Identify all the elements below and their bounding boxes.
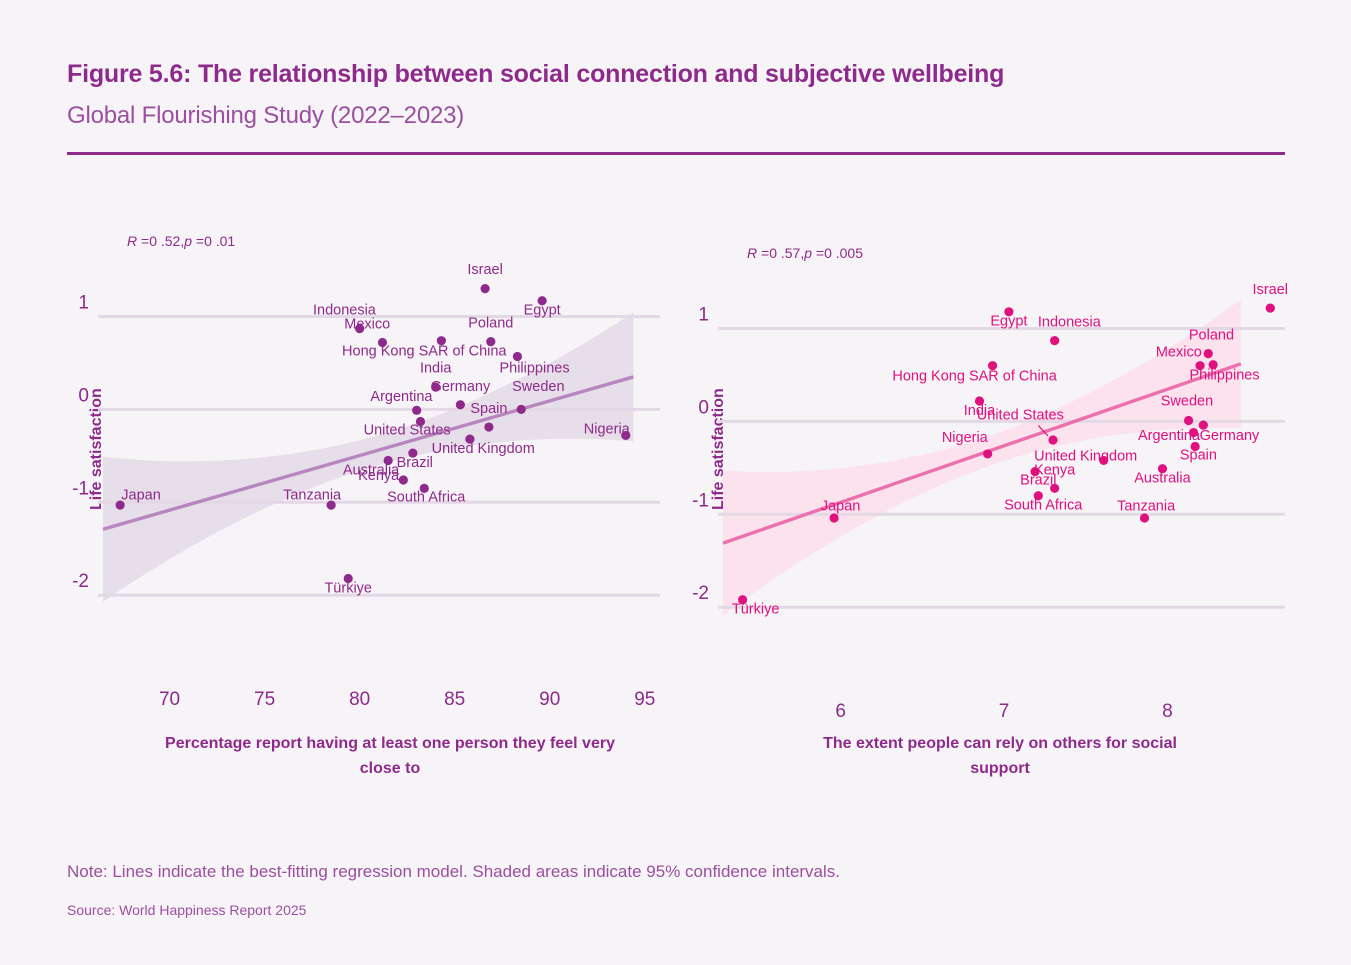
data-point[interactable] xyxy=(412,406,421,415)
left-chart-svg: 10-1-2707580859095R =0 .52,p =0 .01Israe… xyxy=(0,180,700,720)
data-point-label: Brazil xyxy=(397,455,433,471)
data-point-label: Spain xyxy=(470,401,507,417)
data-point-label: South Africa xyxy=(1004,498,1083,514)
data-point-label: Türkiye xyxy=(324,580,372,596)
data-point-label: Australia xyxy=(1134,471,1191,487)
y-tick-label: 0 xyxy=(78,385,89,406)
data-point[interactable] xyxy=(481,284,490,293)
regression-line xyxy=(103,377,633,529)
x-tick-label: 70 xyxy=(159,689,180,710)
left-scatter-panel: 10-1-2707580859095R =0 .52,p =0 .01Israe… xyxy=(0,180,700,780)
left-x-axis-title: Percentage report having at least one pe… xyxy=(160,732,620,782)
data-point[interactable] xyxy=(1048,435,1057,444)
data-point-label: India xyxy=(420,360,452,376)
data-point-label: Israel xyxy=(1253,282,1288,298)
data-point-label: Nigeria xyxy=(584,422,631,438)
data-point-label: Indonesia xyxy=(1038,315,1102,331)
data-point-label: South Africa xyxy=(387,489,466,505)
y-tick-label: 1 xyxy=(78,293,89,314)
data-point-label: Sweden xyxy=(1161,394,1213,410)
data-point[interactable] xyxy=(1266,303,1275,312)
data-point-label: Mexico xyxy=(1156,344,1202,360)
y-tick-label: -2 xyxy=(692,583,709,604)
figure-subtitle: Global Flourishing Study (2022–2023) xyxy=(67,102,464,130)
data-point-label: Kenya xyxy=(358,468,400,484)
data-point-label: United States xyxy=(977,408,1064,424)
data-point-label: Israel xyxy=(467,262,502,278)
figure-note: Note: Lines indicate the best-fitting re… xyxy=(67,862,840,882)
x-tick-label: 85 xyxy=(444,689,465,710)
x-tick-label: 8 xyxy=(1162,701,1173,720)
data-point-label: Nigeria xyxy=(942,430,989,446)
figure-title: Figure 5.6: The relationship between soc… xyxy=(67,60,1004,89)
data-point-label: Egypt xyxy=(524,303,561,319)
y-tick-label: 1 xyxy=(698,305,709,326)
data-point[interactable] xyxy=(1184,416,1193,425)
data-point-label: Argentina xyxy=(1138,428,1201,444)
data-point[interactable] xyxy=(829,513,838,522)
data-point-label: Argentina xyxy=(370,389,433,405)
data-point-label: Poland xyxy=(1189,328,1234,344)
data-point[interactable] xyxy=(517,405,526,414)
data-point-label: Germany xyxy=(431,379,491,395)
data-point-label: Egypt xyxy=(990,314,1027,330)
data-point-label: Tanzania xyxy=(1117,499,1176,515)
data-point[interactable] xyxy=(456,400,465,409)
title-divider xyxy=(67,152,1285,155)
left-x-axis-title-text: Percentage report having at least one pe… xyxy=(165,735,615,777)
data-point-label: United States xyxy=(364,422,451,438)
right-x-axis-title-text: The extent people can rely on others for… xyxy=(823,735,1177,777)
data-point-label: Türkiye xyxy=(732,602,780,618)
y-tick-label: -1 xyxy=(692,490,709,511)
regression-line xyxy=(723,364,1241,543)
data-point[interactable] xyxy=(1050,336,1059,345)
data-point[interactable] xyxy=(484,422,493,431)
right-chart-svg: 10-1-2678R =0 .57,p =0 .005IsraelEgyptIn… xyxy=(651,180,1351,720)
x-tick-label: 75 xyxy=(254,689,275,710)
data-point-label: Philippines xyxy=(1189,368,1259,384)
data-point-label: Philippines xyxy=(499,360,569,376)
x-tick-label: 90 xyxy=(539,689,560,710)
data-point-label: Tanzania xyxy=(283,488,342,504)
data-point[interactable] xyxy=(1140,513,1149,522)
data-point-label: United Kingdom xyxy=(432,441,535,457)
right-scatter-panel: 10-1-2678R =0 .57,p =0 .005IsraelEgyptIn… xyxy=(651,180,1351,780)
data-point[interactable] xyxy=(1050,484,1059,493)
data-point-label: Poland xyxy=(468,316,513,332)
correlation-annotation: R =0 .52,p =0 .01 xyxy=(127,233,235,249)
data-point-label: Japan xyxy=(121,488,161,504)
x-tick-label: 80 xyxy=(349,689,370,710)
y-tick-label: -2 xyxy=(72,571,89,592)
data-point[interactable] xyxy=(1204,349,1213,358)
y-tick-label: 0 xyxy=(698,397,709,418)
data-point[interactable] xyxy=(983,449,992,458)
data-point-label: Sweden xyxy=(512,379,564,395)
data-point-label: Hong Kong SAR of China xyxy=(342,344,507,360)
data-point-label: Kenya xyxy=(1034,462,1076,478)
correlation-annotation: R =0 .57,p =0 .005 xyxy=(747,245,863,261)
figure-source: Source: World Happiness Report 2025 xyxy=(67,902,306,918)
data-point[interactable] xyxy=(399,475,408,484)
data-point-label: Hong Kong SAR of China xyxy=(892,369,1057,385)
right-x-axis-title: The extent people can rely on others for… xyxy=(820,732,1180,782)
data-point-label: Spain xyxy=(1180,447,1217,463)
x-tick-label: 7 xyxy=(999,701,1010,720)
data-point-label: Germany xyxy=(1200,428,1260,444)
y-tick-label: -1 xyxy=(72,478,89,499)
data-point-label: Mexico xyxy=(344,317,390,333)
data-point-label: Japan xyxy=(821,499,861,515)
x-tick-label: 6 xyxy=(835,701,846,720)
